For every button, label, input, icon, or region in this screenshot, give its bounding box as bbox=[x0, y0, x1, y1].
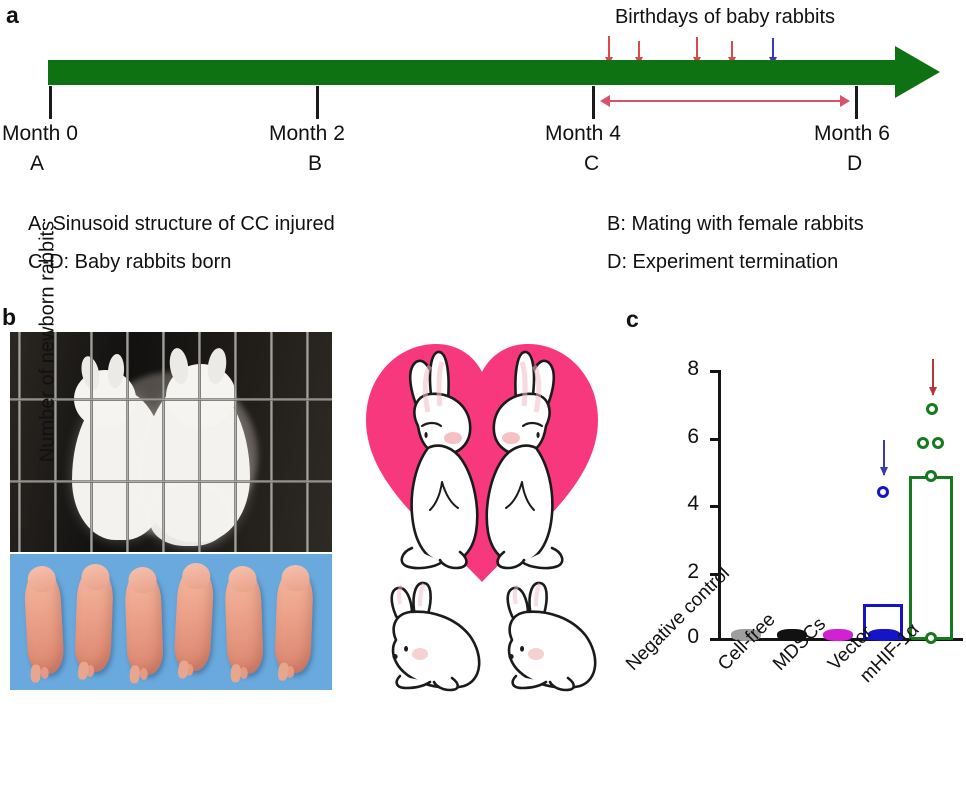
y-tick-label-4: 4 bbox=[675, 492, 699, 516]
y-tick-8: 8 bbox=[710, 370, 719, 373]
newborn-rabbits-photo bbox=[10, 554, 332, 690]
cage-bar bbox=[234, 332, 237, 552]
legend-line-b: B: Mating with female rabbits bbox=[607, 213, 864, 236]
timeline-tick-month-4 bbox=[592, 86, 595, 119]
heart-icon bbox=[366, 344, 598, 582]
timeline-tick-month-2 bbox=[316, 86, 319, 119]
timeline-tick-month-6 bbox=[855, 86, 858, 119]
chart-plot-area: 8 6 4 2 0 bbox=[718, 362, 966, 648]
birthdays-of-baby-rabbits-label: Birthdays of baby rabbits bbox=[560, 6, 890, 29]
data-point-vector-5 bbox=[877, 486, 889, 498]
vector-highlight-arrow bbox=[883, 440, 885, 475]
timeline-bar bbox=[48, 60, 903, 85]
timepoint-label-c: C bbox=[584, 152, 599, 176]
data-point-mhif-0 bbox=[925, 632, 937, 644]
timepoint-label-d: D bbox=[847, 152, 862, 176]
newborn-rabbit bbox=[23, 569, 64, 675]
baby-rabbits-born-range-arrow bbox=[600, 95, 850, 107]
y-tick-6: 6 bbox=[710, 438, 719, 441]
y-tick-label-6: 6 bbox=[675, 425, 699, 449]
panel-a-letter: a bbox=[6, 4, 19, 27]
timeline-arrowhead-icon bbox=[895, 46, 940, 98]
panel-a-timeline: a Birthdays of baby rabbits Month 0 Mont… bbox=[0, 0, 966, 292]
y-axis-label: Number of newborn rabbits bbox=[37, 197, 60, 487]
cage-bar bbox=[90, 332, 93, 552]
y-tick-0: 0 bbox=[710, 638, 719, 641]
bar-mhif-1-alpha bbox=[909, 476, 953, 640]
legend-line-a: A: Sinusoid structure of CC injured bbox=[28, 213, 335, 236]
data-point-mhif-6a bbox=[917, 437, 929, 449]
rabbit-family-illustration bbox=[348, 314, 616, 696]
timepoint-label-a: A bbox=[30, 152, 44, 176]
panel-b-letter: b bbox=[2, 306, 16, 329]
y-tick-label-2: 2 bbox=[675, 560, 699, 584]
mhif-highlight-arrow bbox=[932, 359, 934, 395]
data-point-mhif-7 bbox=[926, 403, 938, 415]
cage-bar bbox=[306, 332, 309, 552]
cage-bar bbox=[270, 332, 273, 552]
newborn-rabbit bbox=[124, 570, 164, 675]
newborn-rabbit bbox=[274, 568, 314, 673]
month-label-2: Month 2 bbox=[269, 122, 345, 146]
newborn-rabbit bbox=[224, 569, 264, 674]
timeline-tick-month-0 bbox=[49, 86, 52, 119]
y-tick-label-8: 8 bbox=[675, 357, 699, 381]
data-point-mhif-5 bbox=[925, 470, 937, 482]
cage-bar bbox=[18, 332, 21, 552]
legend-line-d: D: Experiment termination bbox=[607, 251, 838, 274]
timepoint-label-b: B bbox=[308, 152, 322, 176]
month-label-4: Month 4 bbox=[545, 122, 621, 146]
panel-c-letter: c bbox=[626, 308, 639, 331]
cage-bar bbox=[162, 332, 165, 552]
data-point-mhif-6b bbox=[932, 437, 944, 449]
y-tick-4: 4 bbox=[710, 505, 719, 508]
cage-bar bbox=[198, 332, 201, 552]
month-label-6: Month 6 bbox=[814, 122, 890, 146]
rabbit-heart-svg bbox=[348, 314, 616, 696]
newborn-rabbit bbox=[74, 567, 114, 672]
month-label-0: Month 0 bbox=[2, 122, 78, 146]
newborn-rabbit bbox=[173, 566, 214, 672]
cage-bar bbox=[126, 332, 129, 552]
